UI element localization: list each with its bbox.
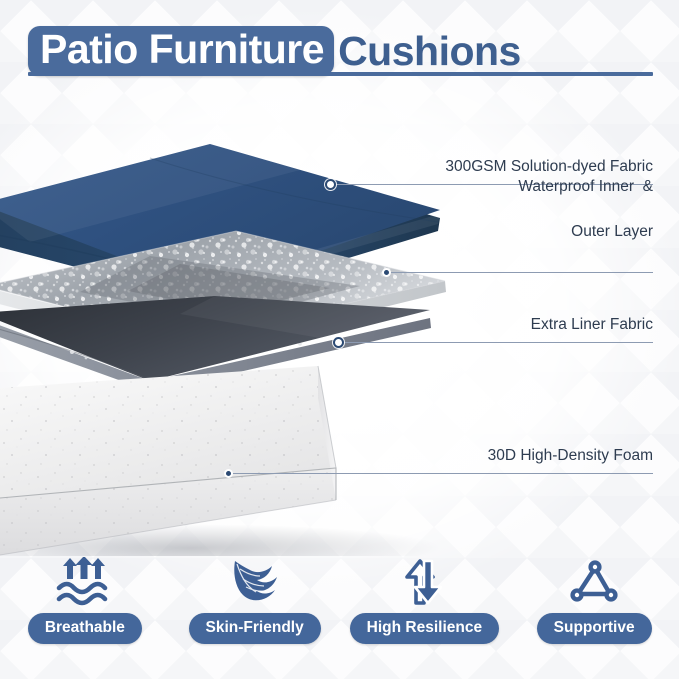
feature-breathable[interactable]: Breathable [0,556,170,666]
feature-high-resilience[interactable]: High Resilience [340,556,510,666]
feature-label-supportive[interactable]: Supportive [537,613,652,644]
callout-label-line-1: Waterproof Inner & [518,178,653,195]
feature-badge-row: Breathable Skin-Friendly [0,556,679,666]
callout-leader-line [338,342,653,343]
feature-skin-friendly[interactable]: Skin-Friendly [170,556,340,666]
callout-marker-dot [224,469,233,478]
callout-marker-dot [333,337,344,348]
callout-label-line-2: Outer Layer [571,223,653,240]
callout-marker-dot [325,179,336,190]
product-infographic: Patio Furniture Cushions [0,0,679,679]
feature-label-breathable[interactable]: Breathable [28,613,142,644]
title-plain: Cushions [338,29,521,73]
breathable-icon [54,556,116,608]
high-density-foam-block [0,356,360,556]
title-highlight: Patio Furniture [28,26,334,75]
support-nodes-icon [568,556,620,608]
callout-leader-line [386,272,653,273]
callout-label: 30D High-Density Foam [488,445,653,467]
page-title: Patio Furniture Cushions [28,24,653,78]
feather-icon [226,556,284,608]
resilience-arrows-icon [398,556,450,608]
feature-label-high-resilience[interactable]: High Resilience [350,613,499,644]
header-divider [28,72,653,76]
feature-label-skin-friendly[interactable]: Skin-Friendly [189,613,321,644]
callout-label: Extra Liner Fabric [531,314,653,336]
callout-leader-line [228,473,653,474]
callout-label: Waterproof Inner & Outer Layer [492,154,653,266]
callout-marker-dot [382,268,391,277]
feature-supportive[interactable]: Supportive [509,556,679,666]
